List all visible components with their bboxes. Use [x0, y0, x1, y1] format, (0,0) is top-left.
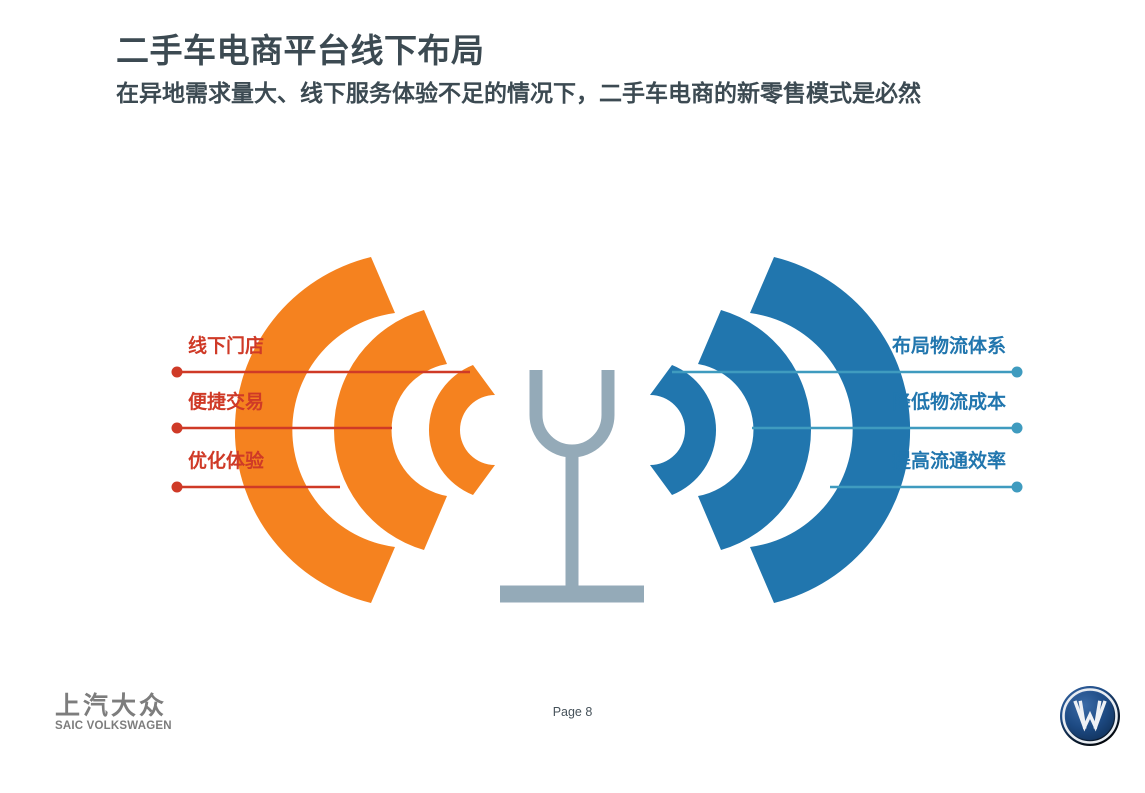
left-label-2: 便捷交易 [188, 393, 264, 412]
volkswagen-logo-icon [1059, 685, 1121, 752]
slide-subtitle: 在异地需求量大、线下服务体验不足的情况下，二手车电商的新零售模式是必然 [116, 77, 1026, 110]
left-label-1: 线下门店 [188, 337, 264, 356]
slide-footer: 上汽大众 SAIC VOLKSWAGEN Page 8 [0, 683, 1145, 793]
page-number: Page 8 [0, 705, 1145, 719]
right-arc-group [650, 257, 910, 603]
left-arc-inner [429, 365, 495, 495]
left-connectors [172, 367, 471, 493]
tuning-fork-icon [500, 370, 644, 594]
right-label-3: 提高流通效率 [892, 452, 1006, 471]
slide-header: 二手车电商平台线下布局 在异地需求量大、线下服务体验不足的情况下，二手车电商的新… [116, 30, 1056, 110]
right-arc-inner [650, 365, 716, 495]
left-arc-group [235, 257, 495, 603]
slide-canvas: 二手车电商平台线下布局 在异地需求量大、线下服务体验不足的情况下，二手车电商的新… [0, 0, 1145, 793]
right-connector-dot-1 [1012, 367, 1023, 378]
page-title: 二手车电商平台线下布局 [116, 30, 1056, 71]
right-label-2: 降低物流成本 [892, 393, 1006, 412]
left-connector-dot-1 [172, 367, 183, 378]
right-connector-dot-3 [1012, 482, 1023, 493]
right-connector-dot-2 [1012, 423, 1023, 434]
left-label-3: 优化体验 [188, 452, 264, 471]
sound-wave-diagram [0, 200, 1145, 640]
left-connector-dot-3 [172, 482, 183, 493]
right-label-1: 布局物流体系 [892, 337, 1006, 356]
left-connector-dot-2 [172, 423, 183, 434]
saic-brand-en: SAIC VOLKSWAGEN [55, 720, 172, 732]
